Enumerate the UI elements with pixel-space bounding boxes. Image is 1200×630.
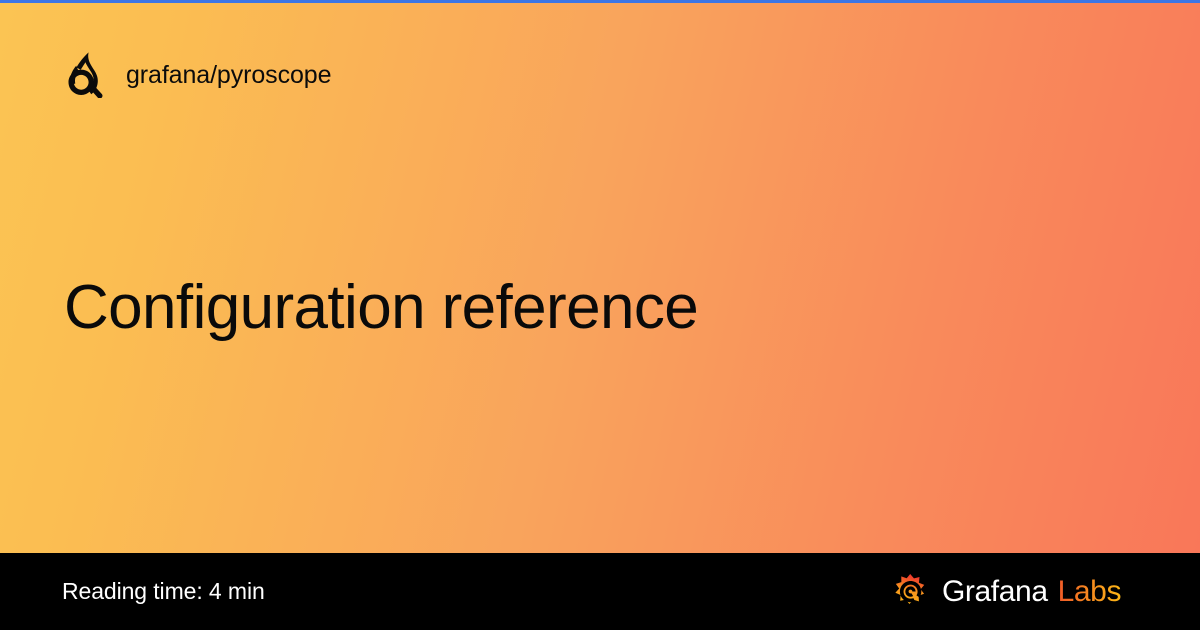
reading-time-label: Reading time: 4 min [62,578,265,605]
repository-header: grafana/pyroscope [64,52,331,98]
open-graph-card: grafana/pyroscope Configuration referenc… [0,0,1200,630]
pyroscope-flame-magnifier-icon [64,52,108,98]
brand-name-text: Grafana [942,575,1048,608]
grafana-labs-brand: Grafana Labs [891,573,1142,611]
page-title: Configuration reference [64,272,698,343]
repository-name: grafana/pyroscope [126,63,331,88]
grafana-labs-wordmark: Grafana Labs [942,575,1142,609]
grafana-sun-spiral-icon [891,573,929,611]
card-footer: Reading time: 4 min [0,553,1200,630]
top-accent-rule [0,0,1200,3]
brand-suffix-text: Labs [1058,575,1121,608]
